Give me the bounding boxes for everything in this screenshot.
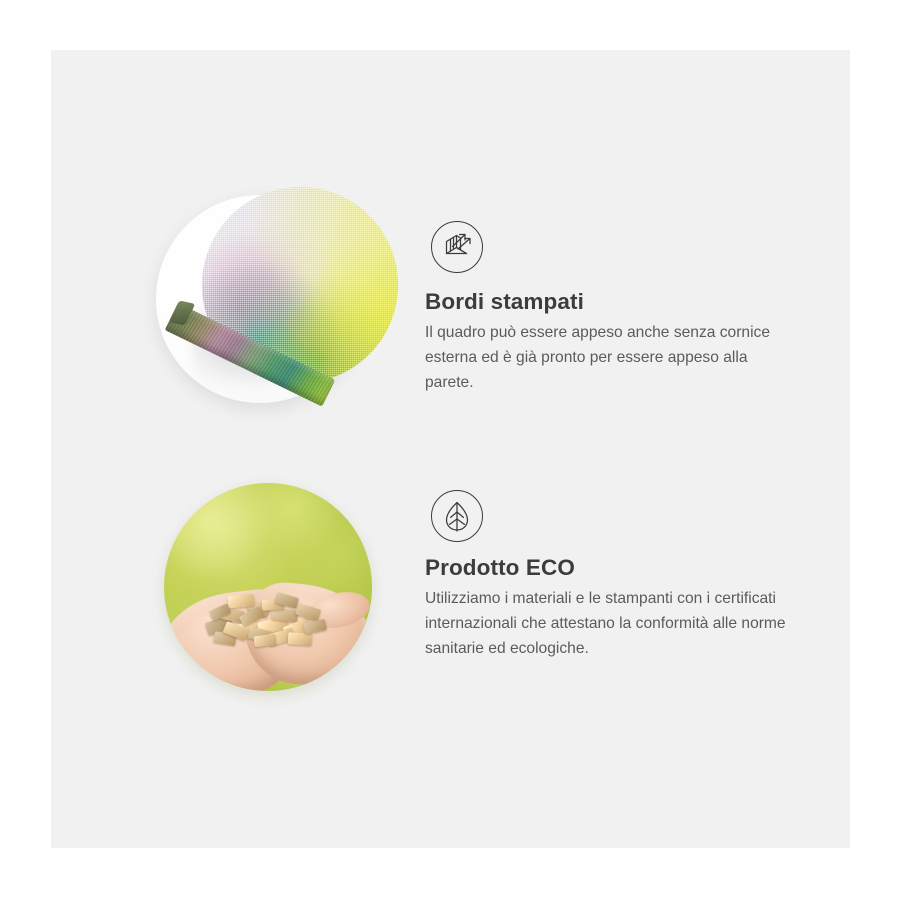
woodchip-pile [204, 589, 330, 657]
leaf-icon [431, 490, 483, 542]
eco-hands-woodchips-photo [148, 470, 388, 710]
product-feature-infographic: Bordi stampati Il quadro può essere appe… [0, 0, 900, 900]
woodchip [295, 603, 322, 622]
feature-block-eco-product: Prodotto ECO Utilizziamo i materiali e l… [0, 0, 900, 900]
woodchip [253, 634, 276, 647]
feature-description: Utilizziamo i materiali e le stampanti c… [425, 586, 793, 661]
hands-holding-woodchips [164, 575, 372, 691]
feature-title: Prodotto ECO [425, 555, 575, 581]
woodchip [288, 632, 313, 646]
green-disc-photo [164, 483, 372, 691]
